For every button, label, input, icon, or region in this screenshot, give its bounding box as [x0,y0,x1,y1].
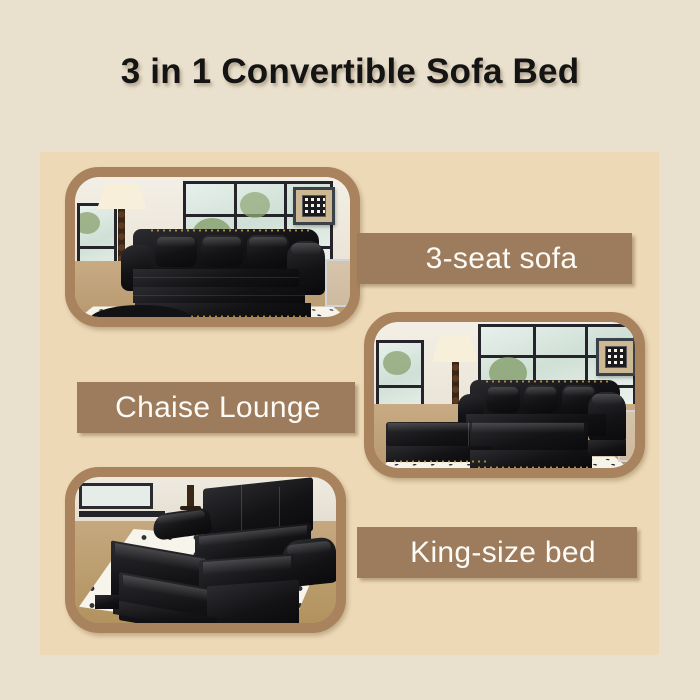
photo-image-chaise [374,322,635,468]
chaise-lounge-photo [364,312,645,478]
three-seat-sofa-photo [65,167,360,327]
label-text: King-size bed [369,536,637,570]
king-size-bed-photo [65,467,346,633]
label-text: Chaise Lounge [81,391,355,425]
product-infographic: 3 in 1 Convertible Sofa Bed [0,0,700,700]
photo-image-bed [75,477,336,623]
label-chaise-lounge: Chaise Lounge [77,382,355,433]
photo-image-sofa [75,177,350,317]
label-text: 3-seat sofa [371,242,632,276]
label-three-seat-sofa: 3-seat sofa [357,233,632,284]
label-king-size-bed: King-size bed [357,527,637,578]
page-title: 3 in 1 Convertible Sofa Bed [0,52,700,92]
